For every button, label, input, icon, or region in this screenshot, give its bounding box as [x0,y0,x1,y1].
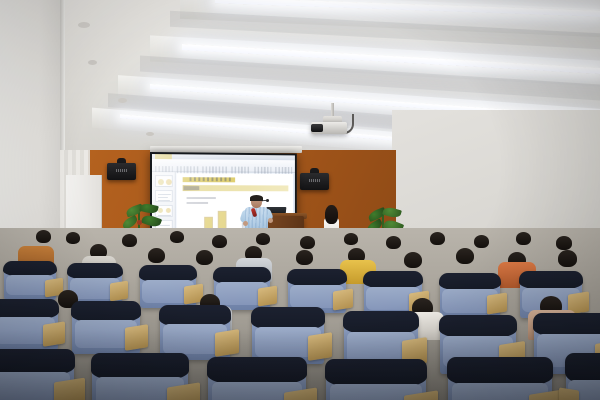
ceiling-downlight [146,132,154,136]
audience-area [0,228,600,400]
attendee-head [170,231,184,243]
app-ribbon [152,159,295,173]
attendee-head [196,250,213,265]
presenter-hair [250,195,263,201]
auditorium-seat[interactable] [4,262,56,300]
attendee-head [344,233,358,245]
auditorium-seat[interactable] [440,274,500,318]
attendee-head [386,236,401,249]
attendee-head [36,230,51,243]
projector-lens-icon [311,124,323,132]
slide-header-label [184,186,200,190]
slide-thumbnail[interactable] [155,175,173,187]
attendee-head [516,232,531,245]
attendee-head [300,236,315,249]
ceiling-downlight [88,60,97,65]
attendee-head [474,235,489,248]
speaker-right [300,173,329,190]
lecture-room-photo [0,0,600,400]
attendee-head [296,250,313,265]
presenter-right-hand [268,218,273,223]
auditorium-seat[interactable] [214,268,270,310]
slide-thumbnail[interactable] [155,190,173,202]
assistant-hair [325,205,338,224]
attendee-head [556,236,572,250]
attendee-head [430,232,445,245]
presenter-left-hand [243,221,248,226]
auditorium-seat[interactable] [140,266,196,308]
attendee-head [212,235,227,248]
floor-shadow [0,330,600,400]
ceiling-downlight [78,22,90,28]
attendee-head [558,250,577,267]
plant-flower [137,220,142,225]
ceiling-downlight [118,98,127,103]
attendee-head [456,248,474,264]
speaker-left [107,163,136,180]
slide-title-text [190,177,233,181]
attendee-head [148,248,165,263]
attendee-head [66,232,80,244]
attendee-head [256,233,270,245]
attendee-head [122,234,137,247]
attendee-head [404,252,422,268]
